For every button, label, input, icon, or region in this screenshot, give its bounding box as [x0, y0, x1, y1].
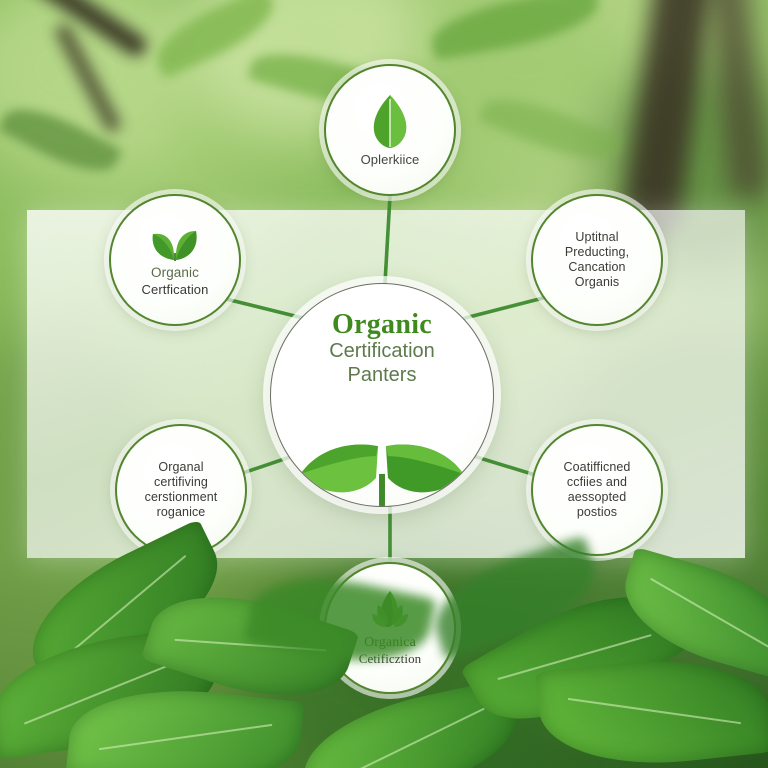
center-title-line1: Organic	[332, 310, 432, 339]
node-left-label: Organal certifiving cerstionment roganic…	[135, 460, 228, 521]
infographic-canvas: Oplerkiice Organic Certfication Uptitnal…	[0, 0, 768, 768]
node-top-right-label: Uptitnal Preducting, Cancation Organis	[555, 230, 639, 291]
sprout-two-leaf-icon	[271, 416, 493, 507]
node-top-left[interactable]: Organic Certfication	[109, 194, 241, 326]
center-title-line2: Certification	[329, 339, 435, 364]
node-top-left-label: Organic Certfication	[132, 265, 219, 297]
center-hub-node[interactable]: Organic Certification Panters	[270, 283, 494, 507]
leaf-icon	[369, 93, 411, 149]
node-top-label: Oplerkiice	[351, 152, 430, 168]
link-center-top	[385, 196, 390, 283]
node-right[interactable]: Coatifficned ccfiies and aessopted posti…	[531, 424, 663, 556]
node-top-right[interactable]: Uptitnal Preducting, Cancation Organis	[531, 194, 663, 326]
link-center-top-right	[465, 296, 551, 318]
two-leaves-icon	[149, 222, 201, 262]
node-right-label: Coatifficned ccfiies and aessopted posti…	[554, 460, 641, 521]
node-top[interactable]: Oplerkiice	[324, 64, 456, 196]
center-title-line3: Panters	[348, 363, 417, 388]
link-center-top-left	[222, 298, 303, 318]
